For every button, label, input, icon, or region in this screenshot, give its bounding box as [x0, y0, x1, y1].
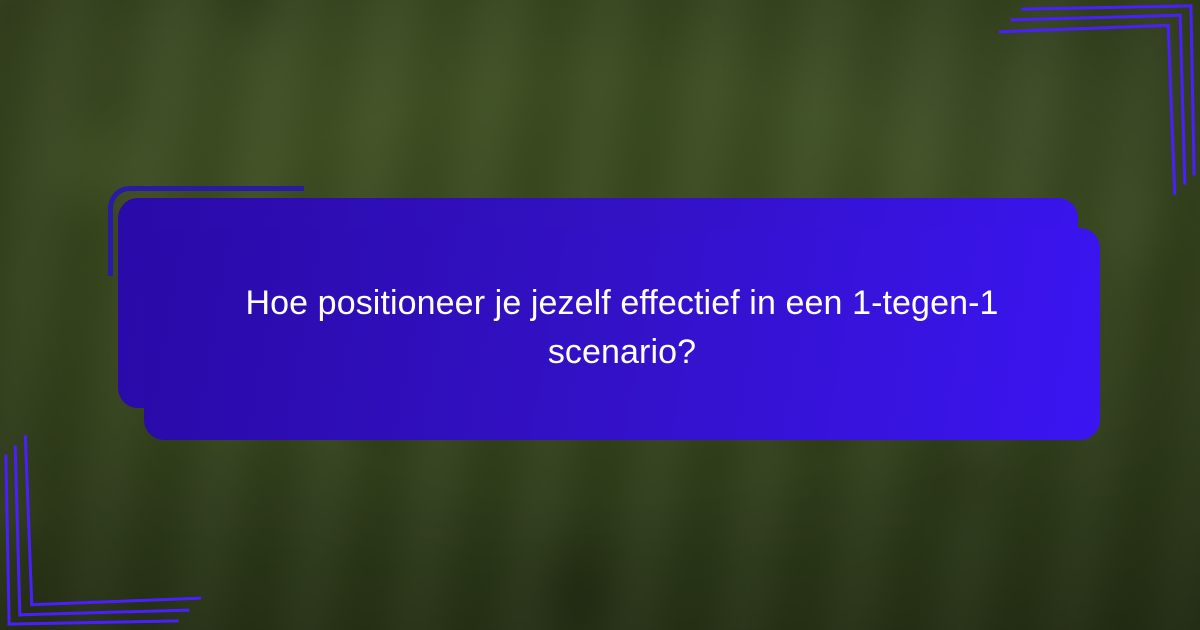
social-card-canvas: Hoe positioneer je jezelf effectief in e… [0, 0, 1200, 630]
page-title: Hoe positioneer je jezelf effectief in e… [144, 279, 1100, 378]
headline-card: Hoe positioneer je jezelf effectief in e… [144, 228, 1100, 440]
